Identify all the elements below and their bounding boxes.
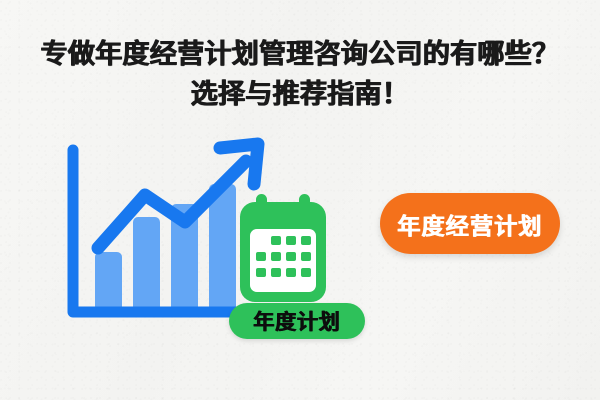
callout-badge-green[interactable]: 年度计划	[229, 303, 365, 339]
bar-2	[133, 217, 160, 312]
page-title: 专做年度经营计划管理咨询公司的有哪些？ 选择与推荐指南！	[0, 34, 600, 114]
bar-4	[209, 184, 236, 312]
title-line-1: 专做年度经营计划管理咨询公司的有哪些？	[0, 34, 600, 74]
calendar-icon	[240, 194, 326, 302]
callout-badge-orange[interactable]: 年度经营计划	[380, 193, 560, 254]
poster-canvas: 专做年度经营计划管理咨询公司的有哪些？ 选择与推荐指南！	[0, 0, 600, 400]
bar-1	[95, 252, 122, 312]
title-line-2: 选择与推荐指南！	[0, 74, 600, 114]
